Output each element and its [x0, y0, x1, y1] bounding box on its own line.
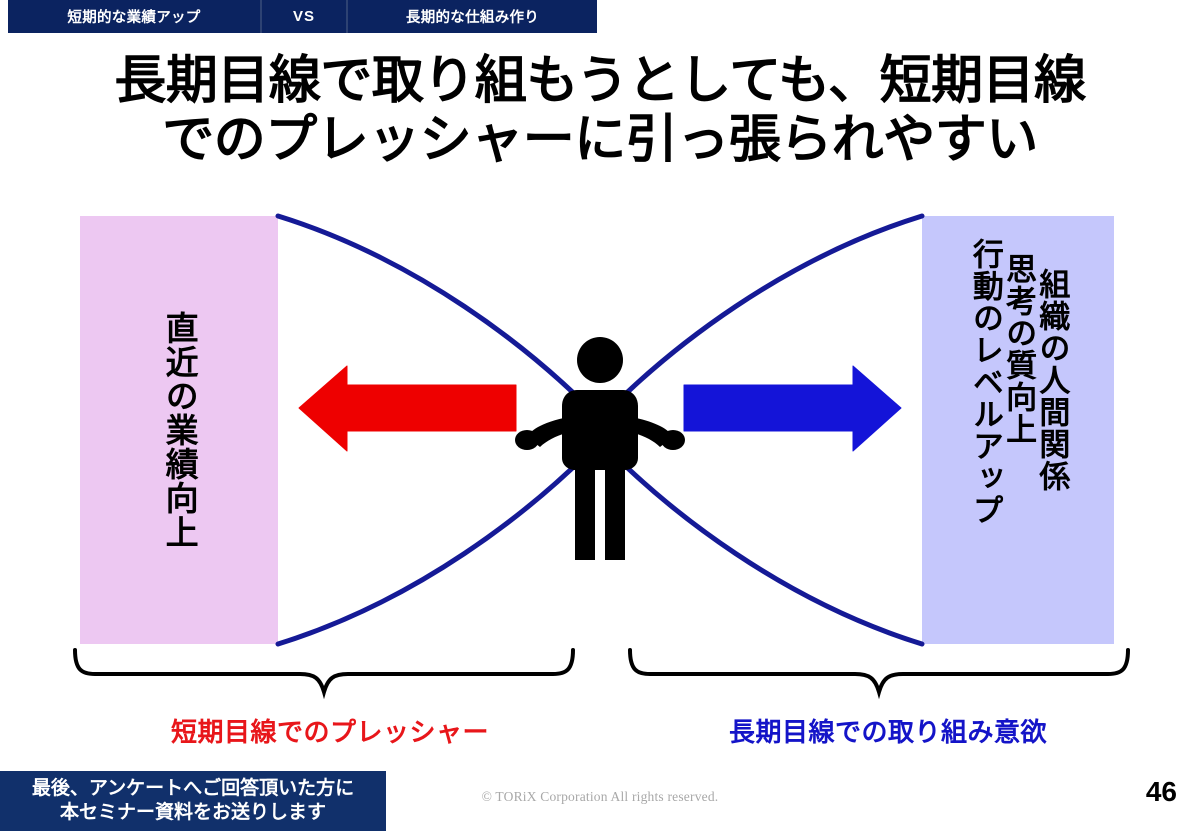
right-arrow-icon: [684, 366, 901, 451]
page-title-line-1: 長期目線で取り組もうとしても、短期目線: [0, 52, 1200, 111]
right-caption: 長期目線での取り組み意欲: [628, 712, 1148, 749]
right-brace: [630, 650, 1128, 692]
header-tab-long-term-label: 長期的な仕組み作り: [406, 6, 539, 27]
person-icon: [515, 337, 685, 560]
header-tab-vs-label: VS: [293, 8, 315, 25]
diagram-vector-layer: [0, 200, 1200, 670]
left-arrow-icon: [299, 366, 516, 451]
header-tab-vs: VS: [262, 0, 346, 33]
header-tab-long-term[interactable]: 長期的な仕組み作り: [348, 0, 597, 33]
copyright-notice: © TORiX Corporation All rights reserved.: [0, 789, 1200, 805]
diagram-area: 直近の業績向上 組織の人間関係 思考の質向上 行動のレベルアップ: [0, 200, 1200, 670]
left-caption: 短期目線でのプレッシャー: [70, 712, 590, 749]
slide-root: 短期的な業績アップ VS 長期的な仕組み作り 長期目線で取り組もうとしても、短期…: [0, 0, 1200, 831]
header-tab-short-term[interactable]: 短期的な業績アップ: [8, 0, 260, 33]
header-tab-short-term-label: 短期的な業績アップ: [67, 6, 200, 27]
left-brace: [75, 650, 573, 692]
page-number: 46: [1146, 776, 1177, 808]
page-title: 長期目線で取り組もうとしても、短期目線 でのプレッシャーに引っ張られやすい: [0, 52, 1200, 171]
page-title-line-2: でのプレッシャーに引っ張られやすい: [0, 111, 1200, 170]
header-bar: 短期的な業績アップ VS 長期的な仕組み作り: [8, 0, 597, 33]
